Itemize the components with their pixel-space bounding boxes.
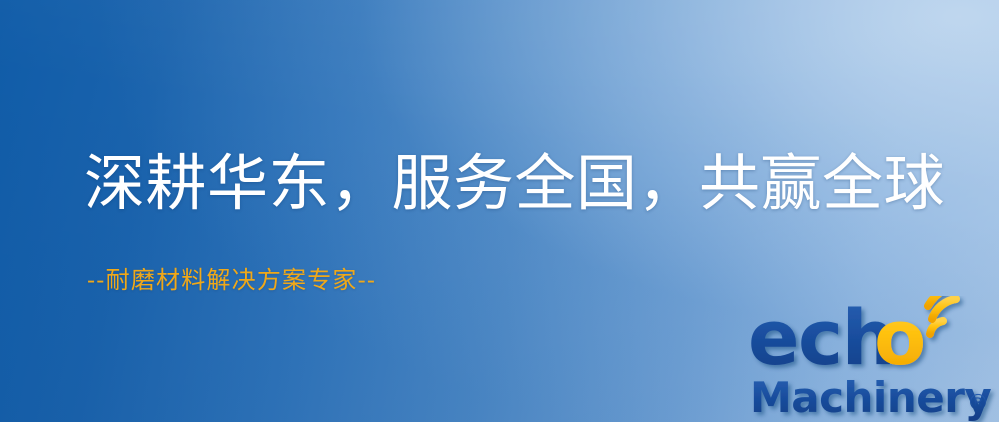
logo-wordmark-accent-o: o — [874, 296, 926, 382]
signal-arcs-icon — [928, 296, 967, 334]
echo-machinery-logo: ech o Machinery ® — [748, 296, 999, 422]
logo-registered-mark: ® — [967, 391, 989, 416]
logo-wordmark-prefix: ech — [748, 296, 894, 382]
promo-banner: 深耕华东，服务全国，共赢全球 --耐磨材料解决方案专家-- — [0, 0, 999, 422]
banner-headline: 深耕华东，服务全国，共赢全球 — [84, 152, 945, 217]
banner-subtitle: --耐磨材料解决方案专家-- — [87, 266, 376, 295]
logo-tagline: Machinery — [750, 373, 991, 422]
